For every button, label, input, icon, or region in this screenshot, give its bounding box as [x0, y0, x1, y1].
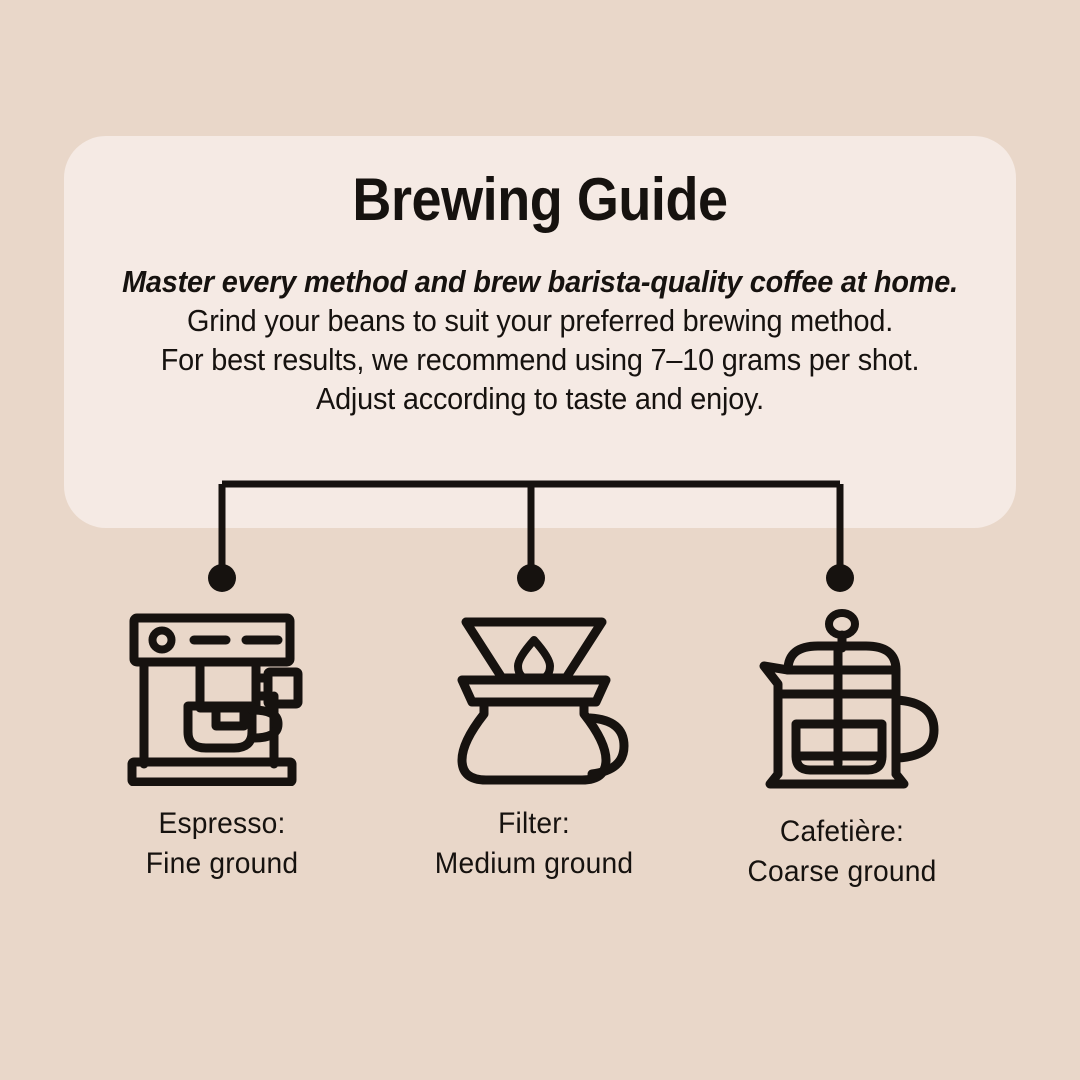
methods-row: Espresso: Fine ground: [0, 596, 1080, 926]
connector-dot-middle: [517, 564, 545, 592]
intro-line-2: Grind your beans to suit your preferred …: [116, 301, 964, 340]
method-item-espresso[interactable]: Espresso: Fine ground: [52, 596, 392, 884]
intro-paragraph: Master every method and brew barista-qua…: [84, 262, 996, 418]
header-card: Brewing Guide Master every method and br…: [64, 136, 1016, 528]
method-label-espresso: Espresso: Fine ground: [62, 804, 382, 884]
brewing-guide-poster: Brewing Guide Master every method and br…: [0, 0, 1080, 1080]
connector-dot-left: [208, 564, 236, 592]
method-grind: Medium ground: [374, 844, 694, 884]
espresso-machine-icon: [52, 596, 392, 786]
method-grind: Fine ground: [62, 844, 382, 884]
intro-line-4: Adjust according to taste and enjoy.: [116, 379, 964, 418]
method-item-filter[interactable]: Filter: Medium ground: [364, 596, 704, 884]
page-title: Brewing Guide: [112, 168, 969, 231]
intro-line-1: Master every method and brew barista-qua…: [116, 262, 964, 301]
method-label-filter: Filter: Medium ground: [374, 804, 694, 884]
method-name: Filter:: [374, 804, 694, 844]
method-name: Cafetière:: [682, 812, 1002, 852]
connector-dot-right: [826, 564, 854, 592]
method-name: Espresso:: [62, 804, 382, 844]
method-label-cafetiere: Cafetière: Coarse ground: [682, 812, 1002, 892]
intro-line-3: For best results, we recommend using 7–1…: [116, 340, 964, 379]
method-grind: Coarse ground: [682, 852, 1002, 892]
french-press-cafetiere-icon: [672, 604, 1012, 794]
pour-over-filter-icon: [364, 596, 704, 786]
method-item-cafetiere[interactable]: Cafetière: Coarse ground: [672, 604, 1012, 892]
